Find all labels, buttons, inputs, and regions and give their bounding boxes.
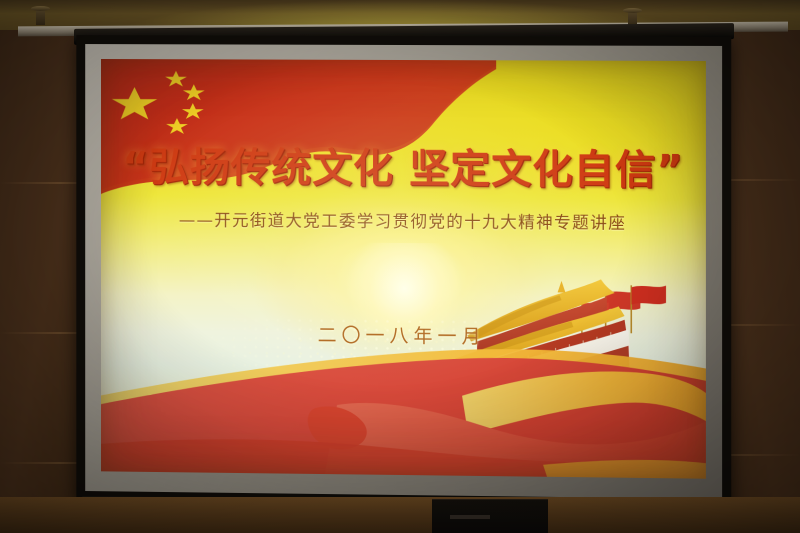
slide-date: 二〇一八年一月 [101,319,706,352]
projected-slide: “弘扬传统文化 坚定文化自信” ——开元街道大党工委学习贯彻党的十九大精神专题讲… [101,59,706,479]
page-title: “弘扬传统文化 坚定文化自信” [101,146,706,193]
slide-text-block: “弘扬传统文化 坚定文化自信” ——开元街道大党工委学习贯彻党的十九大精神专题讲… [101,146,706,235]
screen-ceiling-mount-left [36,8,45,25]
projection-screen-assembly[interactable]: “弘扬传统文化 坚定文化自信” ——开元街道大党工委学习贯彻党的十九大精神专题讲… [60,26,750,516]
panel-label-strip [450,515,490,519]
slide-subtitle: ——开元街道大党工委学习贯彻党的十九大精神专题讲座 [101,206,706,234]
wall-wainscot [0,497,800,533]
wall-equipment-panel [432,499,548,533]
screen-frame: “弘扬传统文化 坚定文化自信” ——开元街道大党工委学习贯彻党的十九大精神专题讲… [76,35,731,510]
conference-room-scene: “弘扬传统文化 坚定文化自信” ——开元街道大党工委学习贯彻党的十九大精神专题讲… [0,0,800,533]
screen-border: “弘扬传统文化 坚定文化自信” ——开元街道大党工委学习贯彻党的十九大精神专题讲… [85,44,722,499]
